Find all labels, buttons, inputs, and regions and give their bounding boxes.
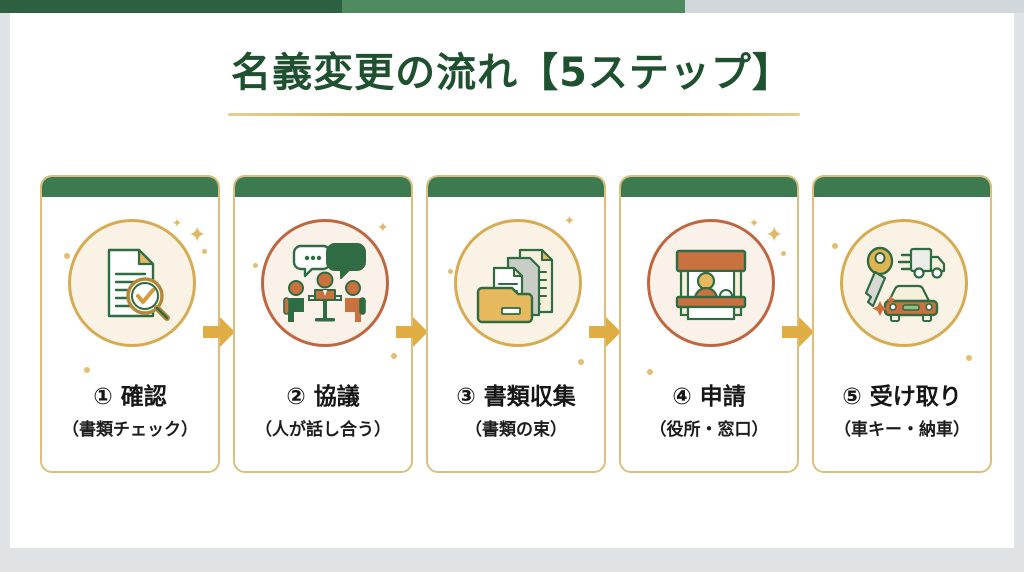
slide-canvas: 名義変更の流れ【5ステップ】 ✦ ✦ [10,13,1014,548]
progress-segment-dark [0,0,342,13]
decor-dot [832,243,838,249]
step-icon-medallion-3 [454,219,582,347]
step-card-2[interactable]: ✦ [233,175,413,473]
decor-dot [578,359,584,365]
sparkle-icon: ✦ [377,221,389,235]
step-sublabel-4: （役所・窓口） [621,415,797,440]
card-header-bar [40,175,220,197]
decor-dot [391,353,397,359]
card-header-bar [233,175,413,197]
sparkle-icon: ✦ [172,217,182,229]
step-icon-medallion-4 [647,219,775,347]
step-card-3[interactable]: ✦ [426,175,606,473]
arrow-2-to-3 [394,315,430,349]
top-progress-bar [0,0,1024,13]
step-sublabel-2: （人が話し合う） [235,415,411,440]
car-key-delivery-icon [858,239,950,327]
arrow-right-icon [780,315,816,349]
decor-dot [202,249,207,254]
arrow-4-to-5 [780,315,816,349]
step-label-1: ① 確認 [42,377,218,411]
decor-dot [84,367,90,373]
page-title: 名義変更の流れ【5ステップ】 [10,49,1014,97]
sparkle-icon: ✦ [749,217,759,229]
sparkle-icon: ✦ [765,225,783,247]
folder-documents-icon [474,240,562,326]
step-sublabel-3: （書類の束） [428,415,604,440]
card-header-bar [426,175,606,197]
arrow-3-to-4 [587,315,623,349]
arrow-right-icon [394,315,430,349]
steps-row: ✦ ✦ [10,175,1014,475]
sparkle-icon: ✦ [188,225,206,247]
arrow-right-icon [587,315,623,349]
step-sublabel-1: （書類チェック） [42,415,218,440]
step-icon-medallion-2 [261,219,389,347]
card-header-bar [812,175,992,197]
step-label-2: ② 協議 [235,377,411,411]
document-check-magnifier-icon [89,240,175,326]
step-icon-medallion-5 [840,219,968,347]
decor-dot [64,253,70,259]
step-label-4: ④ 申請 [621,377,797,411]
arrow-right-icon [201,315,237,349]
step-sublabel-5: （車キー・納車） [814,415,990,440]
page-title-container: 名義変更の流れ【5ステップ】 [10,49,1014,97]
step-label-5: ⑤ 受け取り [814,377,990,411]
sparkle-icon: ✦ [564,215,575,228]
step-card-5[interactable]: ⑤ 受け取り （車キー・納車） [812,175,992,473]
decor-dot [253,263,258,268]
step-card-1[interactable]: ✦ ✦ [40,175,220,473]
card-header-bar [619,175,799,197]
progress-segment-light [342,0,685,13]
step-card-4[interactable]: ✦ ✦ [619,175,799,473]
decor-dot [966,355,972,361]
step-icon-medallion-1 [68,219,196,347]
service-counter-icon [669,241,753,325]
decor-dot [448,269,453,274]
arrow-1-to-2 [201,315,237,349]
people-discussion-icon [279,240,371,326]
step-label-3: ③ 書類収集 [428,377,604,411]
title-underline [228,113,800,116]
decor-dot [781,251,786,256]
decor-dot [647,369,653,375]
